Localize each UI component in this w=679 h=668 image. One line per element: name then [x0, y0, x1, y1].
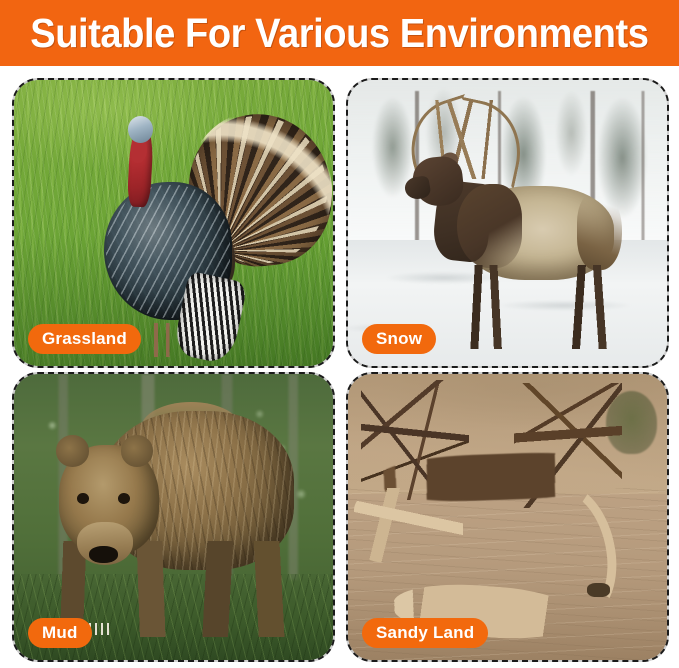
- elk-legs: [462, 265, 616, 349]
- bear-ear-left: [56, 435, 88, 466]
- elk-rump: [577, 191, 622, 270]
- environment-panel-mud[interactable]: Mud: [12, 372, 335, 662]
- elk-shoulder: [457, 184, 522, 268]
- sand-debris: [587, 583, 609, 597]
- turkey-illustration: [97, 109, 327, 355]
- panel-label-mud: Mud: [28, 618, 92, 648]
- elk-illustration: [393, 103, 642, 349]
- bear-eye-left: [77, 493, 89, 504]
- bear-illustration: [30, 397, 323, 637]
- panel-label-sandy-land: Sandy Land: [362, 618, 488, 648]
- bear-ear-right: [121, 435, 153, 466]
- turkey-legs: [143, 323, 180, 357]
- environment-panel-grassland[interactable]: Grassland: [12, 78, 335, 368]
- environment-panel-grid: Grassland Snow: [0, 66, 679, 668]
- bear-nose: [89, 546, 118, 563]
- header-banner: Suitable For Various Environments: [0, 0, 679, 66]
- page-title: Suitable For Various Environments: [30, 11, 648, 55]
- panel-label-grassland: Grassland: [28, 324, 141, 354]
- environment-panel-snow[interactable]: Snow: [346, 78, 669, 368]
- panel-label-snow: Snow: [362, 324, 436, 354]
- bear-eye-right: [118, 493, 130, 504]
- bleached-log-left: [354, 488, 462, 562]
- environment-panel-sandy-land[interactable]: Sandy Land: [346, 372, 669, 662]
- turkey-head: [128, 116, 153, 143]
